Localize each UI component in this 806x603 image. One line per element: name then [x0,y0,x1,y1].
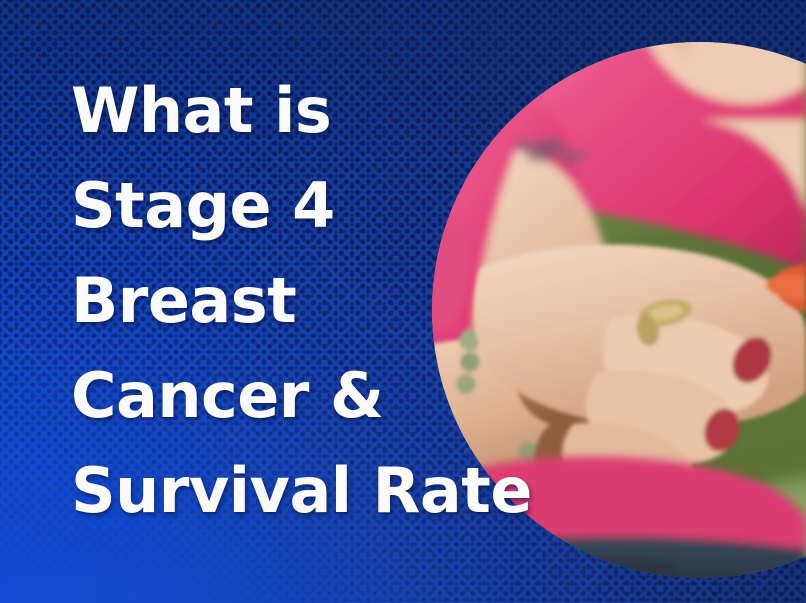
banner-root: What is Stage 4 Breast Cancer & Survival… [0,0,806,603]
